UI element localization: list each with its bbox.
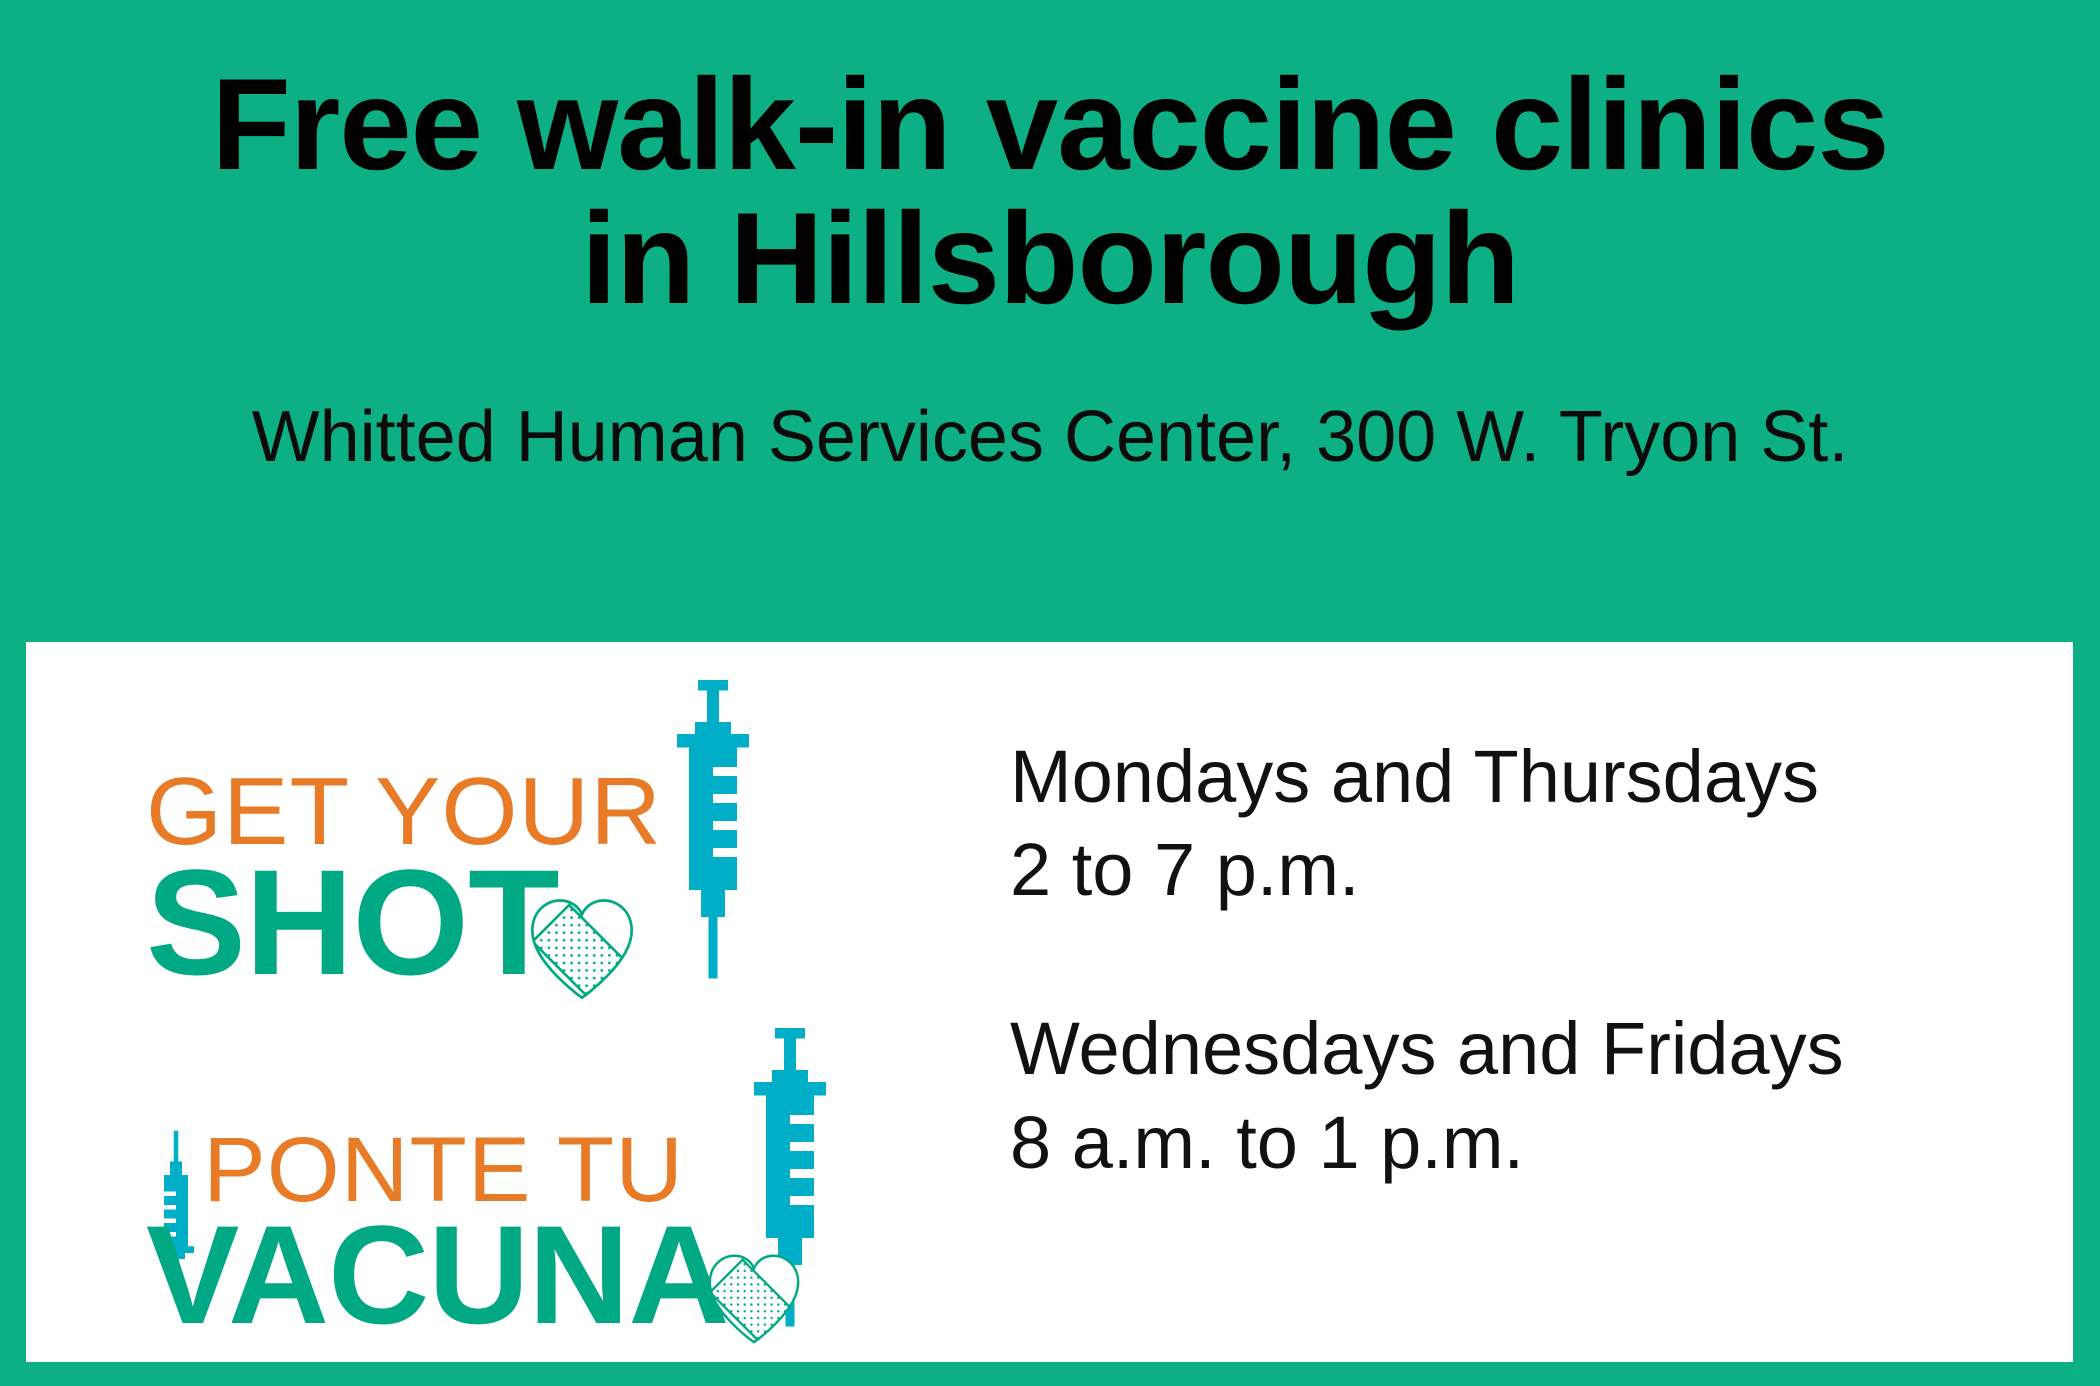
poster-header: Free walk-in vaccine clinicsin Hillsboro… bbox=[0, 0, 2100, 642]
clinic-schedule: Mondays and Thursdays 2 to 7 p.m. Wednes… bbox=[926, 642, 2073, 1189]
schedule-entry: Wednesdays and Fridays 8 a.m. to 1 p.m. bbox=[1010, 1002, 2073, 1188]
campaign-logo-block: GET YOUR SHOT bbox=[26, 642, 926, 1362]
syringe-icon bbox=[751, 1028, 829, 1328]
headline-line-1: Free walk-in vaccine clinics bbox=[211, 51, 1888, 197]
headline-line-2: in Hillsborough bbox=[581, 185, 1519, 331]
schedule-days: Mondays and Thursdays bbox=[1010, 730, 2073, 823]
info-card: GET YOUR SHOT bbox=[26, 642, 2073, 1362]
schedule-hours: 2 to 7 p.m. bbox=[1010, 823, 2073, 916]
logo-en-bottom-word-text: SHOT bbox=[146, 838, 559, 1006]
schedule-entry: Mondays and Thursdays 2 to 7 p.m. bbox=[1010, 730, 2073, 916]
location-subtitle: Whitted Human Services Center, 300 W. Tr… bbox=[110, 326, 1990, 477]
logo-en-bottom-word: SHOT bbox=[146, 856, 652, 988]
logo-get-your-shot: GET YOUR SHOT bbox=[146, 680, 752, 988]
syringe-icon bbox=[674, 680, 752, 980]
logo-es-bottom-word: VACUNA bbox=[146, 1213, 729, 1336]
logo-ponte-tu-vacuna: PONTE TU VACUNA bbox=[146, 1028, 829, 1336]
logo-es-bottom-word-text: VACUNA bbox=[146, 1196, 729, 1353]
schedule-hours: 8 a.m. to 1 p.m. bbox=[1010, 1096, 2073, 1189]
vaccine-clinic-poster: Free walk-in vaccine clinicsin Hillsboro… bbox=[0, 0, 2100, 1386]
schedule-days: Wednesdays and Fridays bbox=[1010, 1002, 2073, 1095]
page-title: Free walk-in vaccine clinicsin Hillsboro… bbox=[110, 58, 1990, 326]
